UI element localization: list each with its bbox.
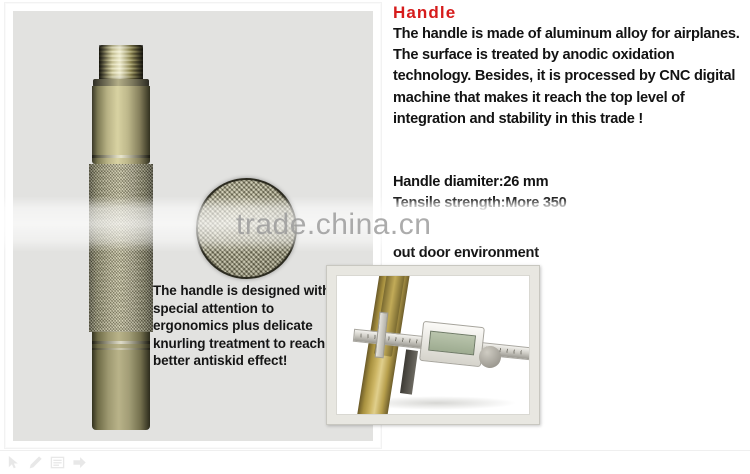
rod-lower-barrel — [92, 332, 150, 430]
spec-tensile-strength: Tensile strength:More 350 — [393, 193, 749, 214]
knurling-magnifier-circle — [196, 178, 297, 279]
caliper-lower-jaw — [400, 349, 418, 394]
caliper-display-body — [419, 321, 485, 367]
right-description-panel: Handle The handle is made of aluminum al… — [392, 0, 750, 473]
list-icon[interactable] — [50, 455, 65, 470]
arrow-right-icon[interactable] — [72, 455, 87, 470]
rod-knurled-grip — [89, 164, 153, 332]
caliper-photo-frame — [326, 265, 540, 425]
handle-design-caption: The handle is designed with special atte… — [153, 282, 353, 370]
caliper-measurement-photo — [336, 275, 530, 415]
bottom-toolbar — [0, 450, 750, 474]
caliper-lcd-screen — [428, 331, 476, 356]
handle-description-text: The handle is made of aluminum alloy for… — [393, 24, 749, 130]
rod-threaded-tip — [99, 45, 143, 79]
spec-outdoor-environment: out door environment — [393, 243, 749, 264]
handle-product-photo: The handle is designed with special atte… — [13, 11, 373, 441]
page-title: Handle — [393, 3, 456, 23]
spec-handle-diameter: Handle diamiter:26 mm — [393, 172, 749, 193]
rod-upper-barrel — [92, 86, 150, 164]
cursor-icon[interactable] — [6, 455, 21, 470]
pencil-icon[interactable] — [28, 455, 43, 470]
product-image-canvas: The handle is designed with special atte… — [0, 0, 750, 473]
